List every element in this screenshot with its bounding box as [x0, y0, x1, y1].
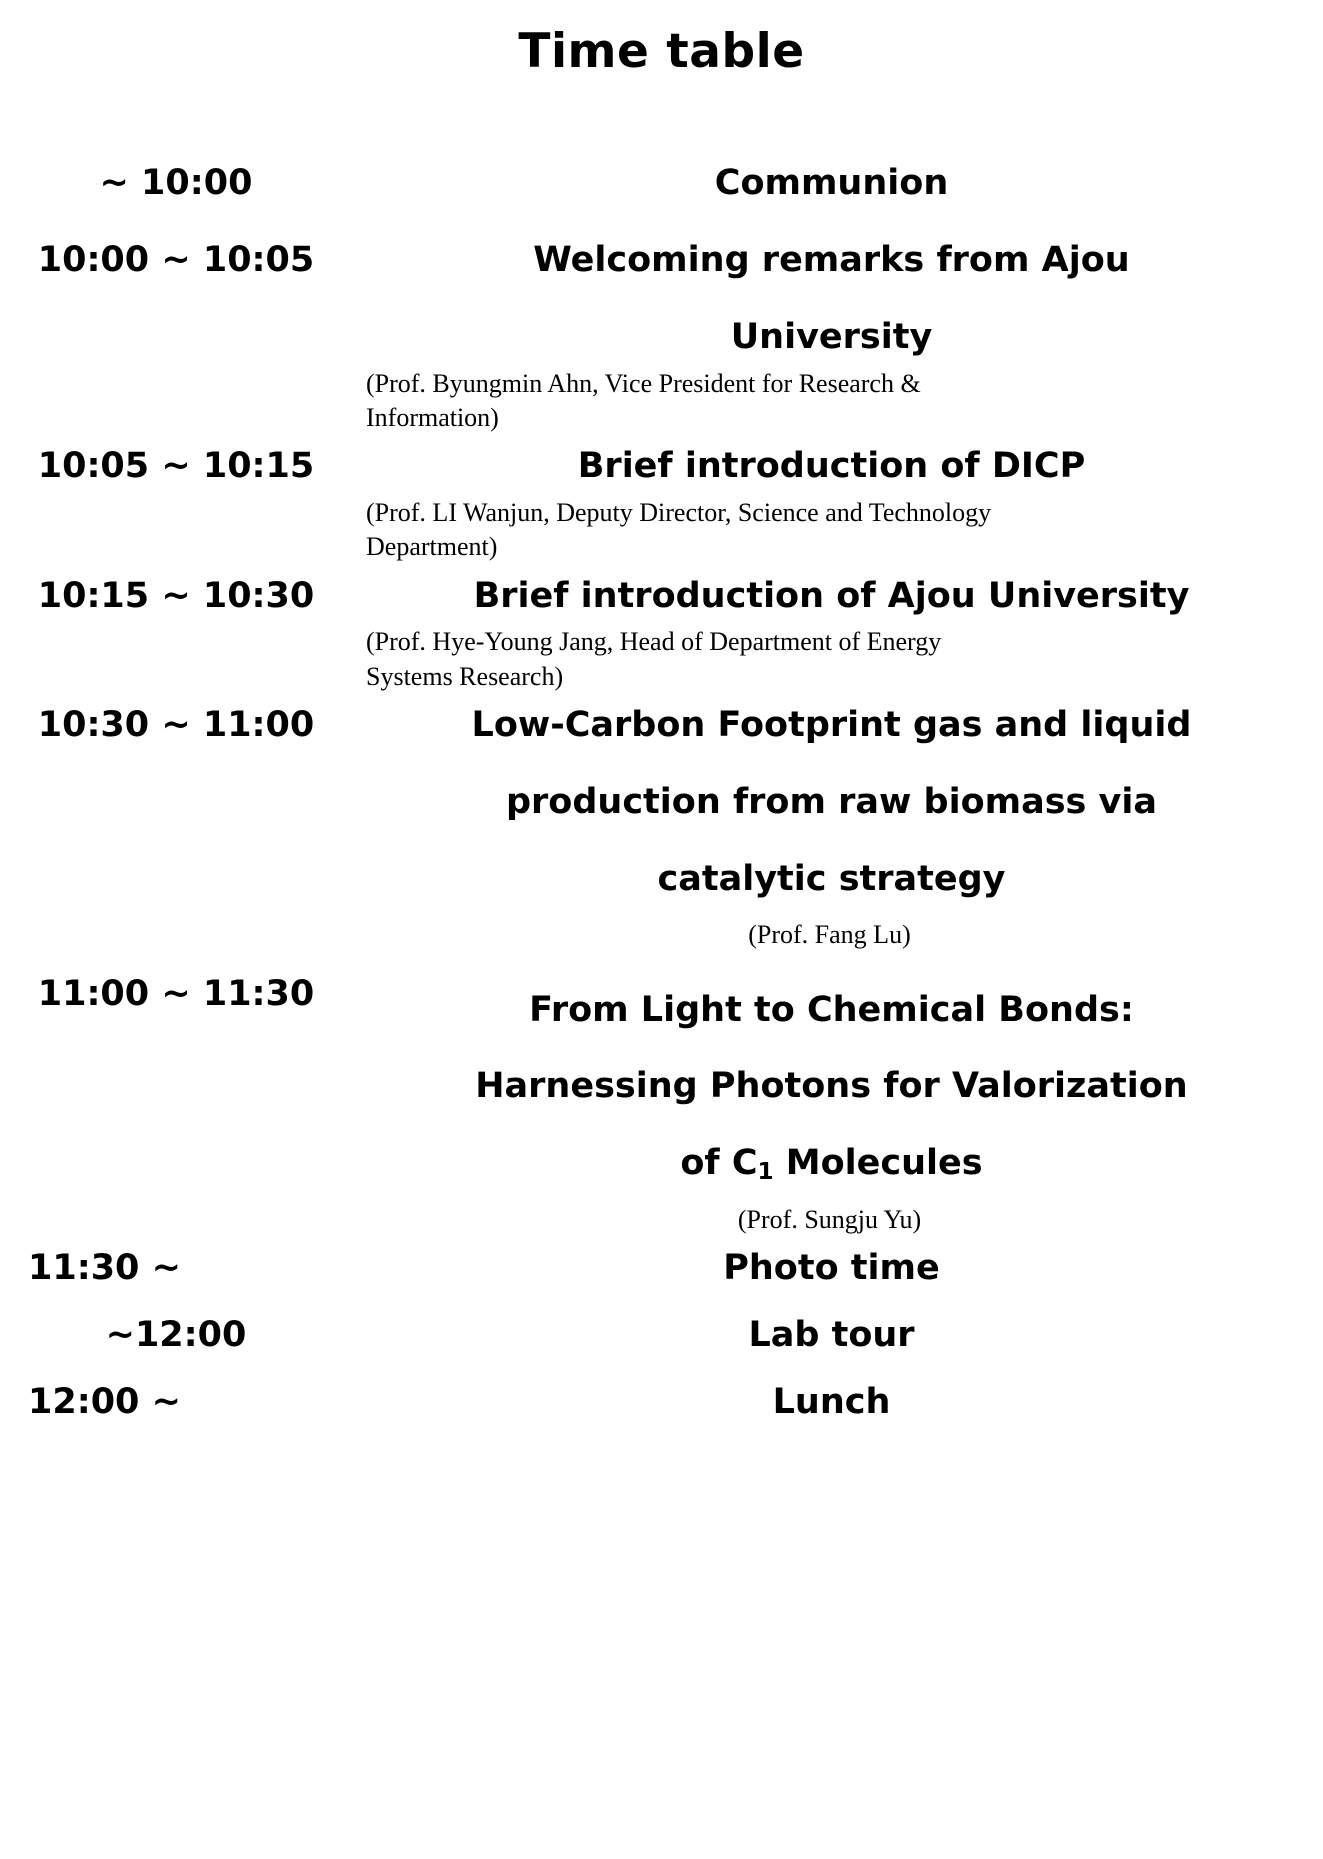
row-event-title-line: Lunch: [360, 1377, 1303, 1428]
row-event-title-line: From Light to Chemical Bonds:: [360, 985, 1303, 1036]
row-time: 11:00 ~ 11:30: [0, 969, 360, 1020]
table-row: 12:00 ~ Lunch: [0, 1377, 1323, 1428]
row-event-title-line: Lab tour: [360, 1310, 1303, 1361]
table-row: 11:30 ~ Photo time: [0, 1243, 1323, 1294]
row-event-title-line: Brief introduction of DICP: [360, 441, 1303, 492]
schedule-table: ~ 10:00 Communion 10:00 ~ 10:05 Welcomin…: [0, 158, 1323, 1427]
row-event-title-line: Brief introduction of Ajou University: [360, 571, 1303, 622]
row-time: 10:05 ~ 10:15: [0, 441, 360, 492]
table-row: 10:05 ~ 10:15 Brief introduction of DICP…: [0, 441, 1323, 564]
row-event: Photo time: [360, 1243, 1323, 1294]
row-event-title-line: catalytic strategy: [360, 854, 1303, 905]
row-event-title-line: Communion: [360, 158, 1303, 209]
row-event-title-line-molecules: of C1 Molecules: [360, 1138, 1303, 1189]
row-event-title-line: Harnessing Photons for Valorization: [360, 1061, 1303, 1112]
row-event-note-line: (Prof. LI Wanjun, Deputy Director, Scien…: [360, 496, 1303, 530]
row-event: Lab tour: [360, 1310, 1323, 1361]
row-event-title-line: production from raw biomass via: [360, 777, 1303, 828]
row-event-note-line: (Prof. Sungju Yu): [360, 1203, 1303, 1237]
row-event: From Light to Chemical Bonds: Harnessing…: [360, 969, 1323, 1238]
row-event: Lunch: [360, 1377, 1323, 1428]
molecule-subscript: 1: [758, 1159, 774, 1185]
row-event-title-line: Welcoming remarks from Ajou: [360, 235, 1303, 286]
table-row: ~ 10:00 Communion: [0, 158, 1323, 209]
row-time: 11:30 ~: [0, 1243, 360, 1294]
row-event: Welcoming remarks from Ajou University (…: [360, 235, 1323, 435]
row-event: Low-Carbon Footprint gas and liquid prod…: [360, 700, 1323, 953]
row-event-note-line: Department): [360, 530, 1303, 564]
molecule-suffix: Molecules: [774, 1143, 983, 1183]
table-row: 11:00 ~ 11:30 From Light to Chemical Bon…: [0, 969, 1323, 1238]
row-event: Brief introduction of Ajou University (P…: [360, 571, 1323, 694]
row-event-note-line: Systems Research): [360, 660, 1303, 694]
table-row: 10:15 ~ 10:30 Brief introduction of Ajou…: [0, 571, 1323, 694]
row-time: ~12:00: [0, 1310, 360, 1361]
table-row: 10:30 ~ 11:00 Low-Carbon Footprint gas a…: [0, 700, 1323, 953]
table-row: ~12:00 Lab tour: [0, 1310, 1323, 1361]
molecule-prefix: of C: [680, 1143, 757, 1183]
row-event-title-line: Photo time: [360, 1243, 1303, 1294]
row-time: 10:30 ~ 11:00: [0, 700, 360, 751]
row-event-note-line: (Prof. Hye-Young Jang, Head of Departmen…: [360, 625, 1303, 659]
row-event: Communion: [360, 158, 1323, 209]
row-event-note-line: (Prof. Fang Lu): [360, 918, 1303, 952]
table-row: 10:00 ~ 10:05 Welcoming remarks from Ajo…: [0, 235, 1323, 435]
document-page: Time table ~ 10:00 Communion 10:00 ~ 10:…: [0, 0, 1323, 1859]
row-event-note-line: Information): [360, 401, 1303, 435]
row-time: 10:00 ~ 10:05: [0, 235, 360, 286]
row-event-title-line: Low-Carbon Footprint gas and liquid: [360, 700, 1303, 751]
row-event-note-line: (Prof. Byungmin Ahn, Vice President for …: [360, 367, 1303, 401]
page-title: Time table: [0, 0, 1323, 80]
row-event: Brief introduction of DICP (Prof. LI Wan…: [360, 441, 1323, 564]
row-time: ~ 10:00: [0, 158, 360, 209]
row-time: 10:15 ~ 10:30: [0, 571, 360, 622]
row-event-title-line: University: [360, 312, 1303, 363]
row-time: 12:00 ~: [0, 1377, 360, 1428]
